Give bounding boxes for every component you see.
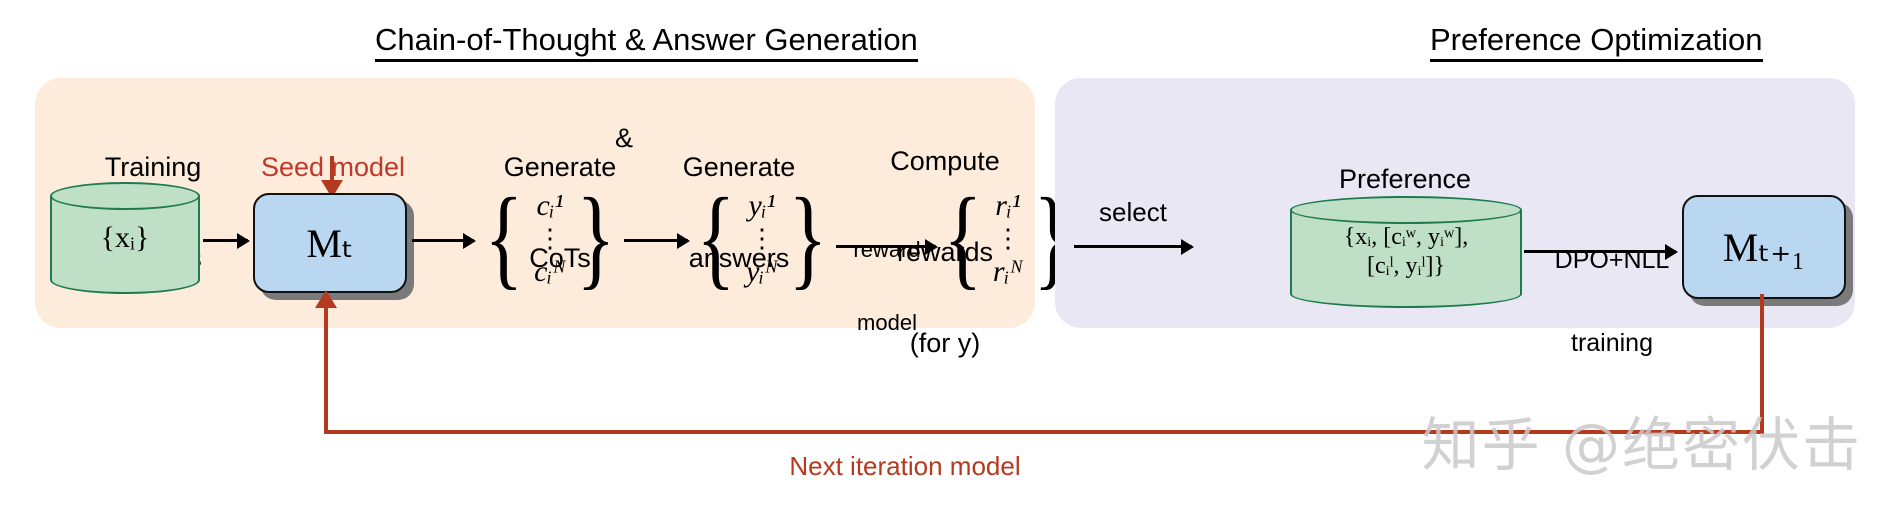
section-title-preference-optimization: Preference Optimization	[1430, 24, 1763, 62]
diagram-canvas: Chain-of-Thought & Answer Generation Pre…	[0, 0, 1882, 510]
set-cots-items: cᵢ¹ ⋮ cᵢᴺ	[531, 189, 569, 289]
left-brace: {	[485, 195, 524, 282]
set-answers-last: yᵢᴺ	[746, 255, 778, 290]
set-rewards-last: rᵢᴺ	[993, 255, 1023, 290]
set-rewards-items: rᵢ¹ ⋮ rᵢᴺ	[990, 189, 1026, 289]
seed-model-arrow-shaft	[330, 156, 334, 182]
set-cots-dots: ⋮	[537, 223, 563, 254]
set-answers-dots: ⋮	[749, 223, 775, 254]
set-answers-first: yᵢ¹	[748, 189, 775, 224]
feedback-line-vertical-left	[324, 308, 328, 434]
feedback-arrow-head	[315, 290, 337, 308]
preference-pairs-notation-line2: [cᵢˡ, yᵢˡ]}	[1290, 252, 1522, 281]
arrow-label-reward-model: reward model	[832, 190, 942, 384]
arrow-cots-to-answers	[624, 239, 688, 242]
preference-pairs-notation-line1: {xᵢ, [cᵢʷ, yᵢʷ],	[1290, 223, 1522, 252]
arrow-answers-to-rewards	[836, 245, 936, 248]
preference-pairs-cylinder: {xᵢ, [cᵢʷ, yᵢʷ], [cᵢˡ, yᵢˡ]}	[1290, 196, 1522, 308]
set-rewards-first: rᵢ¹	[995, 189, 1020, 224]
set-answers: { yᵢ¹ ⋮ yᵢᴺ }	[698, 178, 826, 300]
set-cots-last: cᵢᴺ	[534, 255, 566, 290]
watermark: 知乎 @绝密伏击	[1422, 398, 1862, 482]
set-cots: { cᵢ¹ ⋮ cᵢᴺ }	[486, 178, 614, 300]
set-rewards-dots: ⋮	[995, 223, 1021, 254]
right-brace: }	[576, 195, 615, 282]
left-brace: {	[944, 195, 983, 282]
set-rewards: { rᵢ¹ ⋮ rᵢᴺ }	[944, 178, 1072, 300]
arrow-prompts-to-model	[203, 239, 248, 242]
model-box-mt-label: Mₜ	[306, 220, 353, 267]
arrow-pairs-to-next-model	[1524, 250, 1676, 253]
set-cots-first: cᵢ¹	[536, 189, 563, 224]
arrow-label-dpo-nll-training: DPO+NLL training	[1522, 192, 1702, 412]
arrow-rewards-to-pairs	[1074, 245, 1192, 248]
training-prompts-cylinder: {xᵢ}	[50, 182, 200, 294]
training-prompts-set-notation: {xᵢ}	[50, 221, 200, 255]
left-brace: {	[697, 195, 736, 282]
right-brace: }	[788, 195, 827, 282]
model-box-mt[interactable]: Mₜ	[253, 193, 407, 293]
section-title-chain-of-thought: Chain-of-Thought & Answer Generation	[375, 24, 918, 62]
feedback-label: Next iteration model	[760, 452, 1050, 481]
cylinder-top	[1290, 196, 1522, 224]
set-answers-items: yᵢ¹ ⋮ yᵢᴺ	[743, 189, 781, 289]
arrow-model-to-cots	[412, 239, 474, 242]
preference-pairs-notation: {xᵢ, [cᵢʷ, yᵢʷ], [cᵢˡ, yᵢˡ]}	[1290, 223, 1522, 281]
arrow-label-select: select	[1078, 198, 1188, 227]
model-box-mt-plus-1-label: Mₜ₊₁	[1723, 224, 1805, 271]
cylinder-top	[50, 182, 200, 210]
model-box-mt-plus-1[interactable]: Mₜ₊₁	[1682, 195, 1846, 299]
